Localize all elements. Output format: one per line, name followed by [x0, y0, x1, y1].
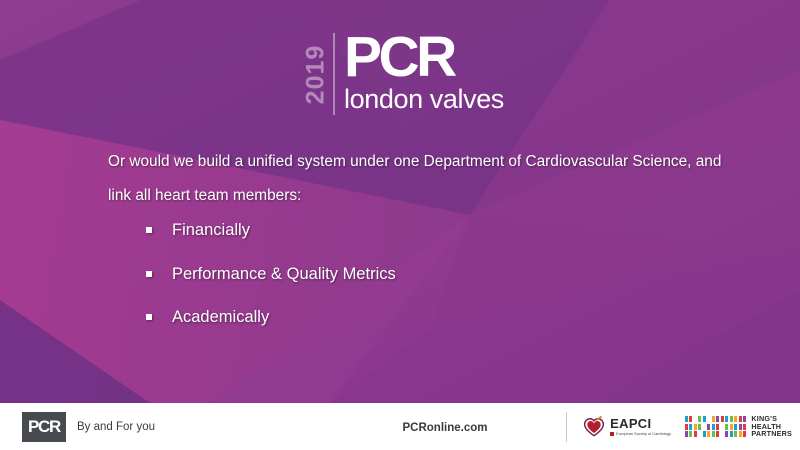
khp-colorbar-row: [685, 424, 747, 430]
kings-health-partners-logo: KING'S HEALTH PARTNERS: [685, 415, 792, 438]
khp-colorbar-row: [685, 416, 747, 422]
list-item: Financially: [146, 221, 666, 239]
bullet-square-icon: [146, 271, 152, 277]
khp-colorbars-icon: [685, 416, 747, 437]
heart-icon: [583, 416, 605, 438]
slide-body-text: Or would we build a unified system under…: [108, 145, 728, 213]
bullet-list: Financially Performance & Quality Metric…: [146, 221, 666, 352]
eapci-subtitle: European Society of Cardiology: [616, 432, 671, 436]
bullet-label: Financially: [172, 221, 250, 239]
logo-year: 2019: [299, 30, 333, 118]
footer-divider: [566, 412, 567, 442]
pcr-london-valves-logo: 2019 PCR london valves: [299, 30, 504, 118]
bullet-square-icon: [146, 314, 152, 320]
logo-year-text: 2019: [304, 44, 329, 104]
bullet-square-icon: [146, 227, 152, 233]
pcr-footer-logo-text: PCR: [28, 417, 60, 437]
bullet-label: Performance & Quality Metrics: [172, 265, 396, 283]
logo-divider-rule: [333, 33, 335, 115]
footer-right-group: EAPCI European Society of Cardiology: [560, 412, 800, 442]
footer-website-link[interactable]: PCRonline.com: [403, 422, 488, 434]
khp-line-3: PARTNERS: [751, 430, 792, 438]
list-item: Performance & Quality Metrics: [146, 265, 666, 283]
footer-left-group: PCR By and For you: [0, 412, 330, 442]
logo-event-text: london valves: [344, 86, 504, 113]
eapci-text-block: EAPCI European Society of Cardiology: [610, 417, 671, 437]
eapci-name: EAPCI: [610, 417, 671, 430]
logo-wordmark: PCR london valves: [344, 30, 504, 118]
bullet-label: Academically: [172, 308, 269, 326]
pcr-footer-logo: PCR: [22, 412, 66, 442]
khp-text-block: KING'S HEALTH PARTNERS: [751, 415, 792, 438]
slide-footer: PCR By and For you PCRonline.com EAPCI: [0, 403, 800, 450]
eapci-logo: EAPCI European Society of Cardiology: [583, 416, 671, 438]
slide-canvas: 2019 PCR london valves Or would we build…: [0, 0, 800, 450]
list-item: Academically: [146, 308, 666, 326]
khp-colorbar-row: [685, 431, 747, 437]
logo-brand-text: PCR: [344, 30, 504, 85]
footer-tagline: By and For you: [77, 421, 155, 433]
footer-center-group: PCRonline.com: [330, 418, 560, 436]
eapci-subtitle-row: European Society of Cardiology: [610, 432, 671, 436]
esc-mark-icon: [610, 432, 614, 436]
